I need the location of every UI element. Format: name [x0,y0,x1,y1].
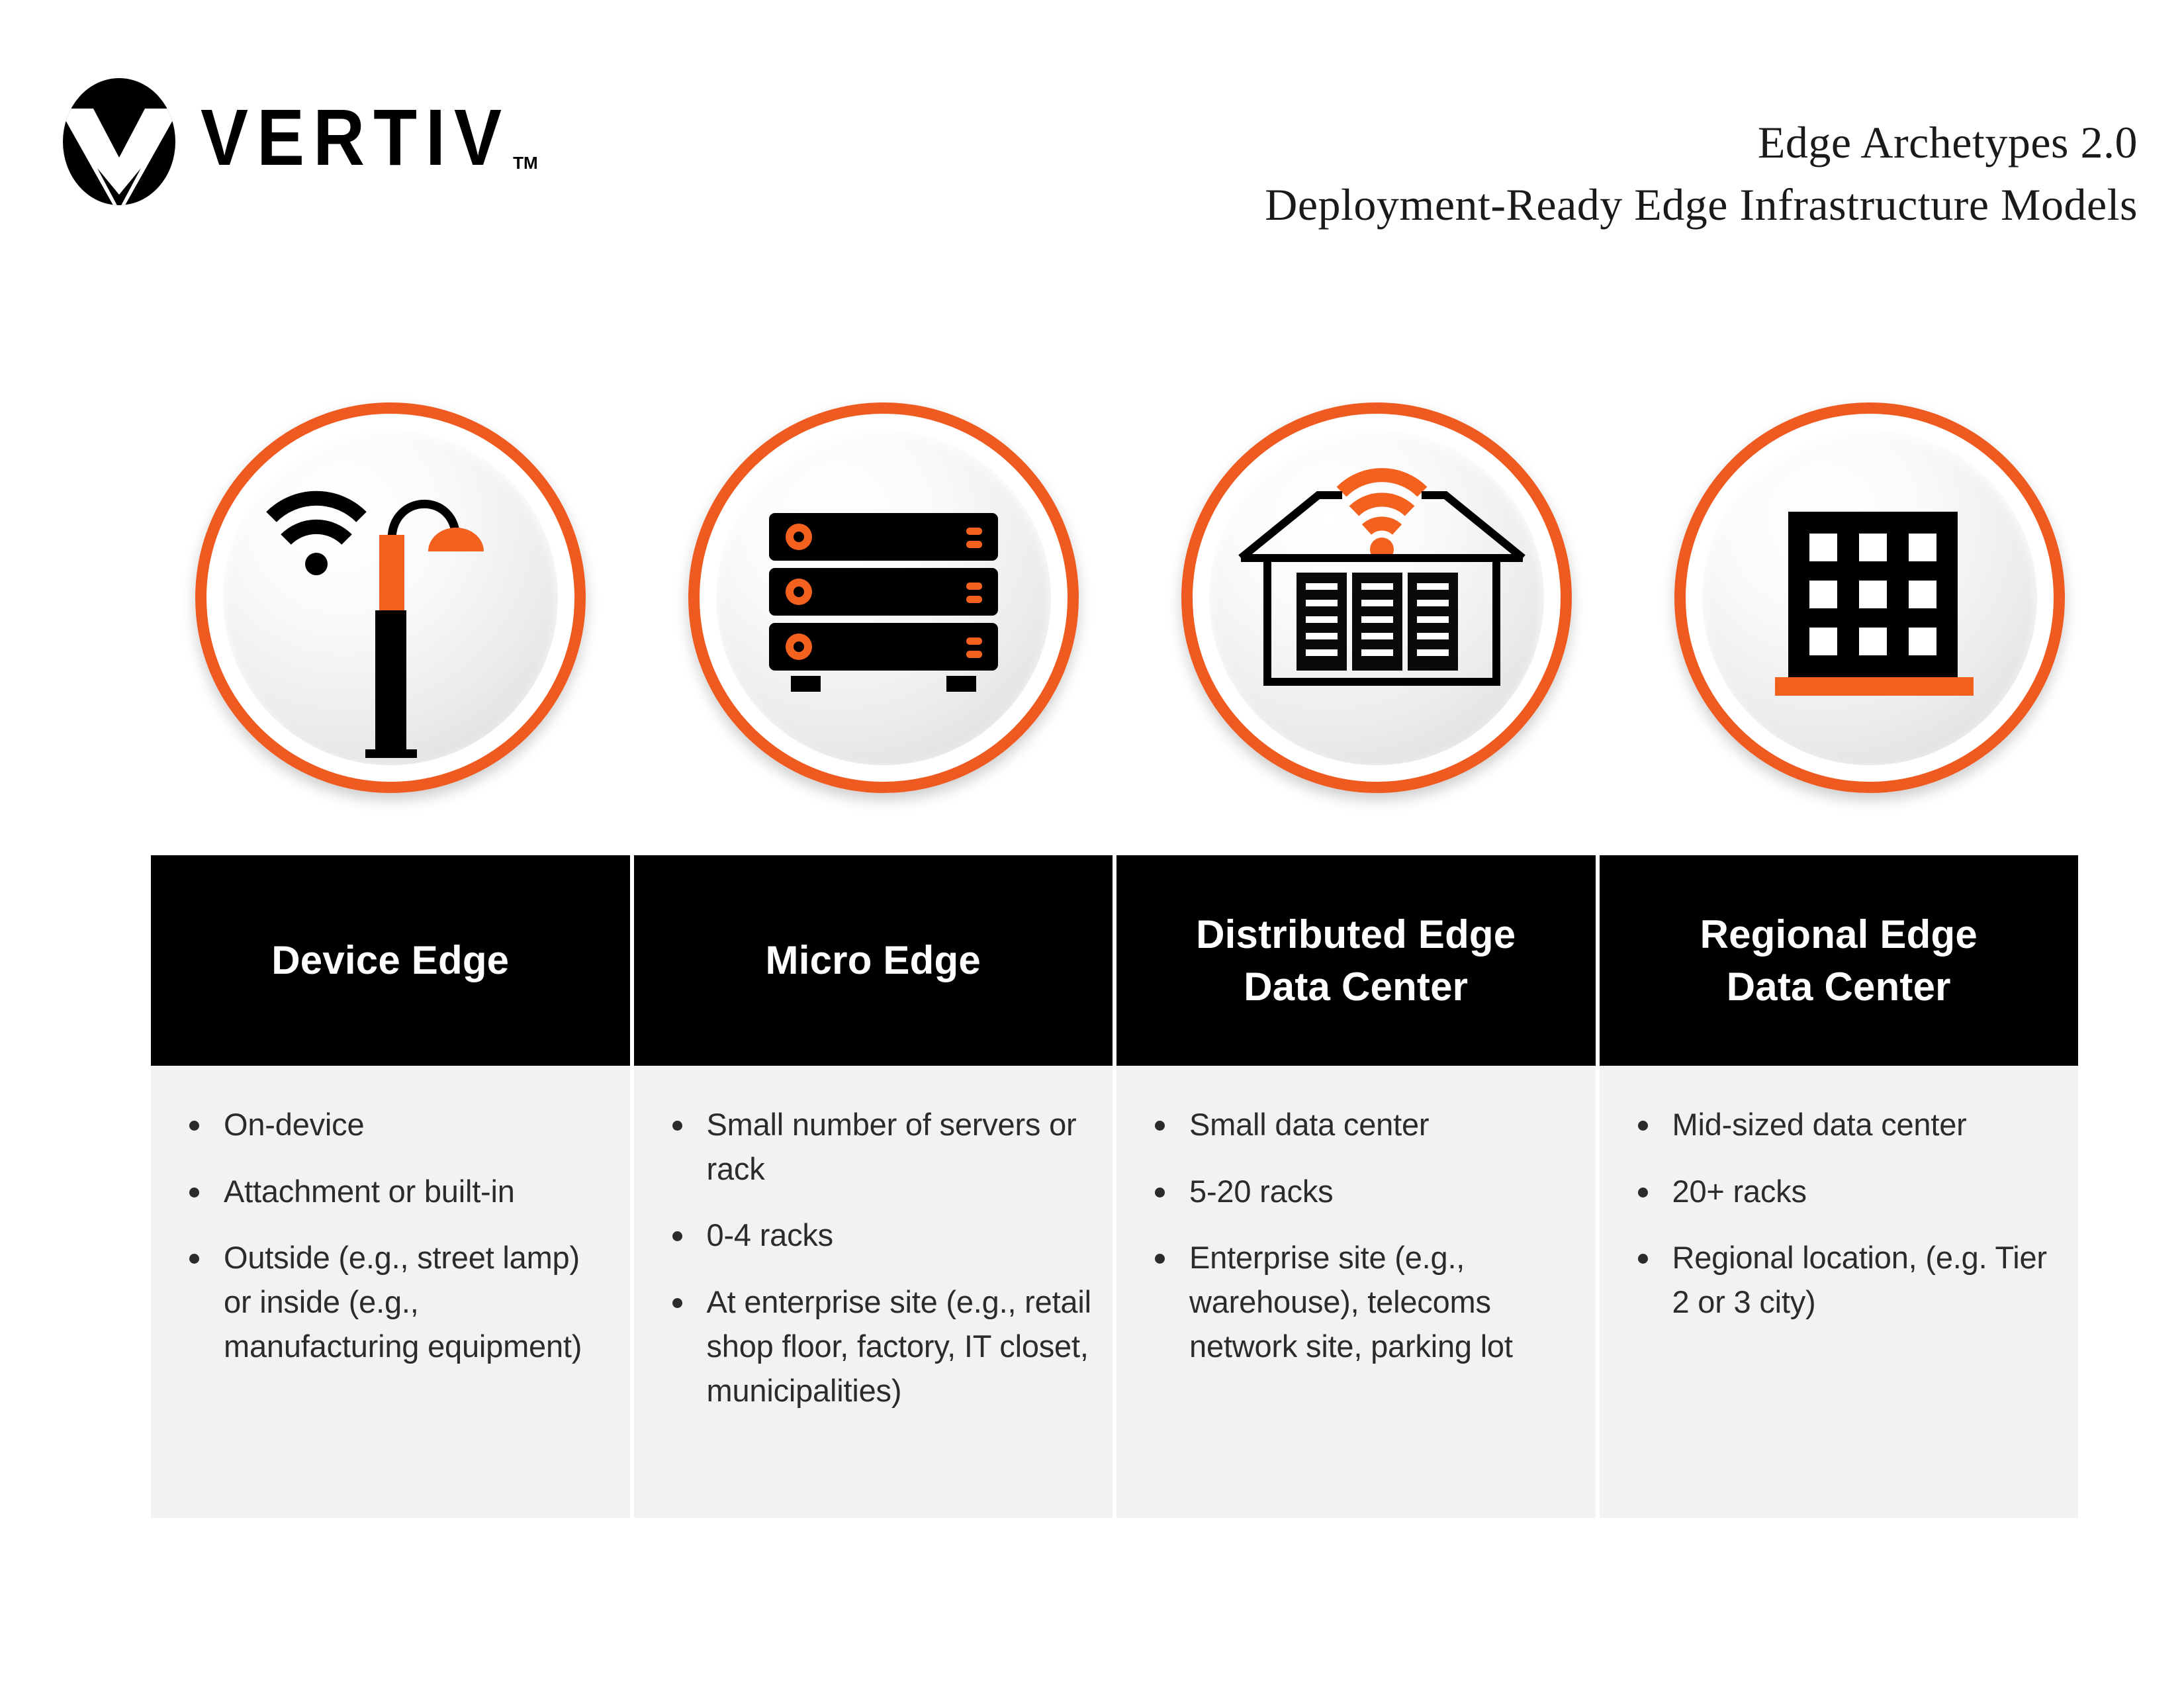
column-header-device-edge: Device Edge [151,855,630,1066]
column-title: Device Edge [271,934,509,986]
list-item: On-device [171,1103,610,1147]
list-item: Attachment or built-in [171,1170,610,1214]
list-item: 5-20 racks [1136,1170,1576,1214]
column-body-device-edge: On-device Attachment or built-in Outside… [151,1066,630,1518]
trademark-symbol: TM [513,153,538,173]
page-title: Edge Archetypes 2.0 [1265,116,2138,169]
column-regional-edge-data-center: Regional Edge Data Center Mid-sized data… [1600,855,2079,1518]
list-item: Outside (e.g., street lamp) or inside (e… [171,1236,610,1368]
list-item: Regional location, (e.g. Tier 2 or 3 cit… [1619,1236,2059,1324]
vertiv-logo: VERTIV TM [63,78,538,205]
building-racks-wifi-icon [1209,430,1544,765]
list-item: Enterprise site (e.g., warehouse), telec… [1136,1236,1576,1368]
list-item: Mid-sized data center [1619,1103,2059,1147]
list-item: 20+ racks [1619,1170,2059,1214]
page-title-block: Edge Archetypes 2.0 Deployment-Ready Edg… [1265,116,2138,231]
icon-badge-distributed-edge [1181,402,1572,793]
bullet-list: Mid-sized data center 20+ racks Regional… [1619,1103,2059,1325]
page-subtitle: Deployment-Ready Edge Infrastructure Mod… [1265,178,2138,231]
column-device-edge: Device Edge On-device Attachment or buil… [151,855,630,1518]
bullet-list: On-device Attachment or built-in Outside… [171,1103,610,1369]
column-micro-edge: Micro Edge Small number of servers or ra… [634,855,1113,1518]
street-lamp-wifi-icon [223,430,558,765]
list-item: 0-4 racks [654,1213,1093,1258]
icon-badge-device-edge [195,402,586,793]
column-title: Regional Edge Data Center [1700,908,1978,1013]
column-header-distributed-edge-data-center: Distributed Edge Data Center [1116,855,1596,1066]
bullet-list: Small data center 5-20 racks Enterprise … [1136,1103,1576,1369]
column-header-regional-edge-data-center: Regional Edge Data Center [1600,855,2079,1066]
column-title-line1: Regional Edge [1700,908,1978,961]
list-item: At enterprise site (e.g., retail shop fl… [654,1280,1093,1413]
column-body-distributed-edge-data-center: Small data center 5-20 racks Enterprise … [1116,1066,1596,1518]
column-title: Distributed Edge Data Center [1196,908,1516,1013]
column-title-line1: Distributed Edge [1196,908,1516,961]
icon-badge-micro-edge [688,402,1079,793]
column-title-line2: Data Center [1700,961,1978,1013]
server-stack-icon [716,430,1051,765]
page-header: VERTIV TM Edge Archetypes 2.0 Deployment… [0,0,2184,285]
list-item: Small data center [1136,1103,1576,1147]
icon-badge-regional-edge [1674,402,2065,793]
list-item: Small number of servers or rack [654,1103,1093,1191]
column-distributed-edge-data-center: Distributed Edge Data Center Small data … [1116,855,1596,1518]
column-body-regional-edge-data-center: Mid-sized data center 20+ racks Regional… [1600,1066,2079,1518]
vertiv-logo-wordmark: VERTIV TM [201,106,538,177]
vertiv-logo-mark [63,78,175,205]
bullet-list: Small number of servers or rack 0-4 rack… [654,1103,1093,1413]
column-body-micro-edge: Small number of servers or rack 0-4 rack… [634,1066,1113,1518]
column-title: Micro Edge [766,934,981,986]
vertiv-wordmark-text: VERTIV [201,97,510,177]
archetype-icon-row [0,397,2184,808]
column-header-micro-edge: Micro Edge [634,855,1113,1066]
office-building-icon [1702,430,2037,765]
column-title-line2: Data Center [1196,961,1516,1013]
archetype-comparison-table: Device Edge On-device Attachment or buil… [151,855,2078,1518]
